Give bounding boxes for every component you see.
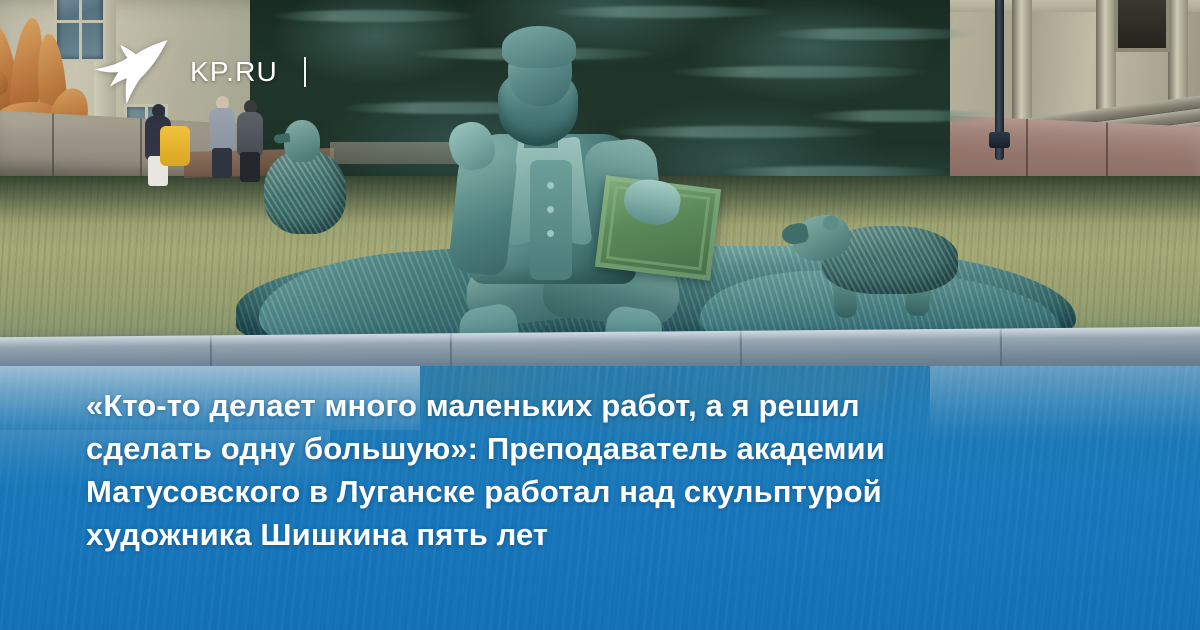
seated-artist-statue	[452, 30, 752, 330]
swallow-bird-icon	[94, 39, 168, 105]
share-card: KP.RU «Кто-то делает много маленьких раб…	[0, 0, 1200, 630]
headline: «Кто-то делает много маленьких работ, а …	[86, 384, 1106, 556]
bronze-grouse-bird	[256, 118, 352, 236]
brand-name: KP.RU	[190, 56, 278, 88]
kp-logo[interactable]: KP.RU	[94, 36, 306, 108]
logo-divider	[304, 57, 306, 87]
